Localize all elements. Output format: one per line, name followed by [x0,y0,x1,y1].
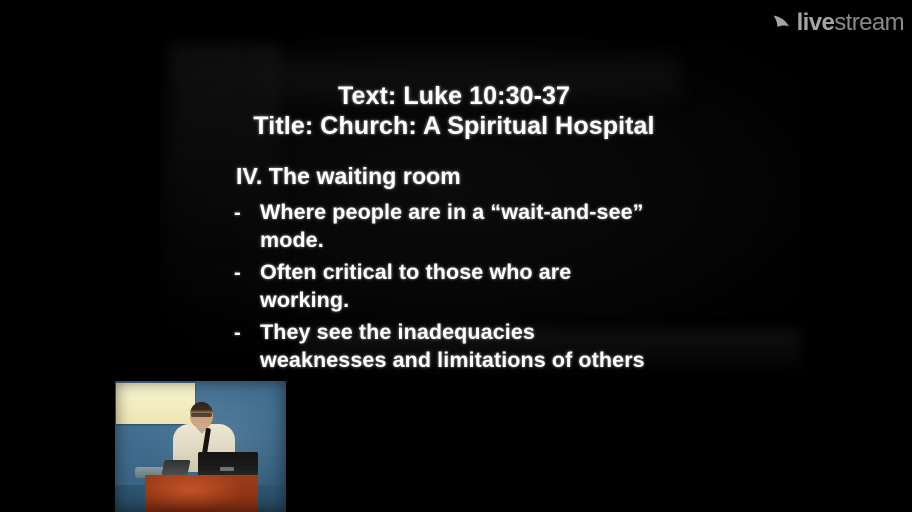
slide-bullet-text: They see the inadequacies weaknesses and… [260,318,645,374]
laptop-icon [198,452,258,477]
slide-bullet-text: Often critical to those who are working. [260,258,571,314]
slide-section-heading: IV. The waiting room [236,163,461,190]
floor-shadow-left [115,485,146,512]
livestream-quill-icon [772,11,794,35]
glasses-icon [191,413,212,417]
speaker-camera-inset[interactable] [115,381,286,512]
livestream-watermark[interactable]: livestream [772,11,904,35]
bullet-dash-icon: - [234,202,241,225]
floor-shadow-right [257,485,286,512]
secondary-laptop [161,460,190,475]
bullet-dash-icon: - [234,262,241,285]
logo-word-stream: stream [834,9,904,36]
podium-shading [145,475,258,512]
livestream-wordmark: livestream [797,11,904,35]
projection-screen [116,383,195,424]
logo-word-live: live [797,9,835,36]
laptop-brand-mark [220,467,234,471]
slide-title-line-2: Title: Church: A Spiritual Hospital [0,112,910,141]
slide-bullet-text: Where people are in a “wait-and-see” mod… [260,198,644,254]
video-player-stage: Text: Luke 10:30-37 Title: Church: A Spi… [0,0,912,512]
slide-title-line-1: Text: Luke 10:30-37 [0,82,910,111]
bullet-dash-icon: - [234,322,241,345]
